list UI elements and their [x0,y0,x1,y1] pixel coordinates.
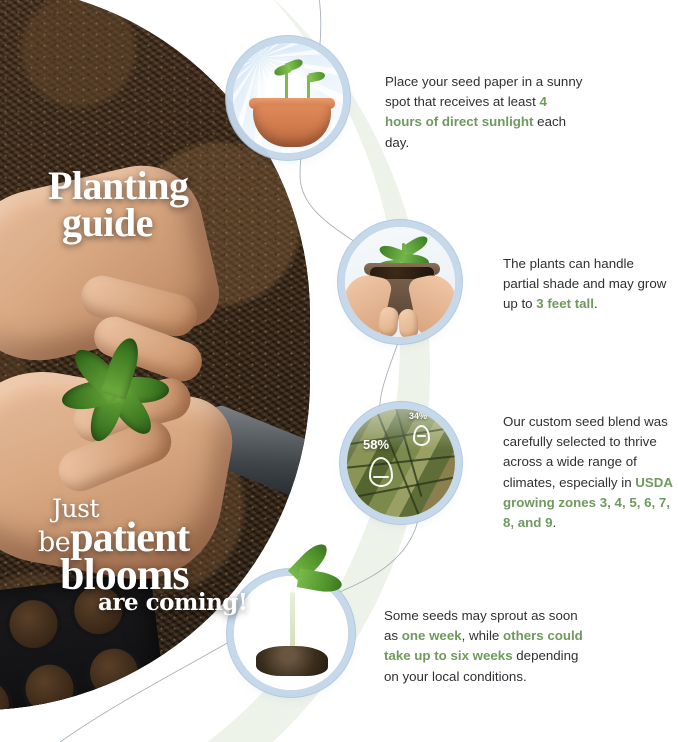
soil-mound [256,646,328,676]
planting-guide-infographic: Planting guide Just bepatient blooms are… [0,0,679,742]
seed-paper-in-pot-sunlight-photo: Thank You Thank You [233,43,343,153]
water-drop-icon [369,457,393,487]
closing-message: Just bepatient blooms are coming! [38,498,247,613]
seedling-plant [55,330,175,450]
step-text-sunlight: Place your seed paper in a sunny spot th… [385,72,585,153]
body-text: . [553,515,557,530]
page-title: Planting guide [48,168,188,242]
moisture-secondary-label: 34% [409,411,427,421]
step-image-zones: 58% 34% [347,409,455,517]
moisture-primary-label: 58% [363,437,389,452]
body-text: Place your seed paper in a sunny spot th… [385,74,582,109]
aerial-farmland-moisture-overlay-photo: 58% 34% [347,409,455,517]
step-image-shade [345,227,455,337]
closing-are-coming: are coming! [98,593,247,613]
step-text-germination: Some seeds may sprout as soon as one wee… [384,606,594,687]
page-title-line-2: guide [62,205,188,242]
sprout-leaves-overflow [250,546,370,616]
highlighted-phrase: one week [402,628,462,643]
water-drop-icon-small [413,425,430,446]
step-image-sunlight: Thank You Thank You [233,43,343,153]
finger [398,308,419,337]
step-text-zones: Our custom seed blend was carefully sele… [503,412,675,533]
hands-holding-potted-seedling-photo [345,227,455,337]
closing-blooms: blooms [60,556,247,594]
body-text: . [594,296,598,311]
step-text-shade: The plants can handle partial shade and … [503,254,668,315]
highlighted-phrase: 3 feet tall [536,296,594,311]
body-text: , while [462,628,503,643]
